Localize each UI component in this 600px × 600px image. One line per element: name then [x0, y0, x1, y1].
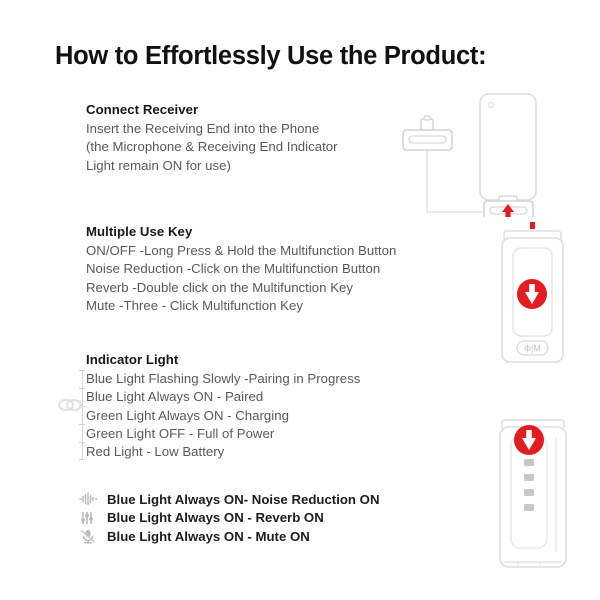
list-item: Blue Light Always ON - Reverb ON	[78, 509, 379, 528]
svg-text:Ф|M: Ф|M	[524, 344, 541, 354]
section-multiple-use-key: Multiple Use Key ON/OFF -Long Press & Ho…	[86, 224, 396, 315]
section-line: Light remain ON for use)	[86, 157, 338, 175]
red-down-arrow-button	[514, 425, 544, 455]
phone-with-receiver-illustration	[398, 92, 588, 217]
section-line: Noise Reduction -Click on the Multifunct…	[86, 260, 396, 278]
section-line: ON/OFF -Long Press & Hold the Multifunct…	[86, 242, 396, 260]
leader-line	[427, 150, 484, 212]
section-line: Green Light Always ON - Charging	[86, 407, 360, 425]
section-indicator-light: Indicator Light Blue Light Flashing Slow…	[86, 352, 360, 461]
page-title: How to Effortlessly Use the Product:	[55, 42, 486, 71]
list-item-label: Blue Light Always ON - Mute ON	[107, 529, 310, 544]
mute-microphone-icon	[78, 528, 98, 544]
section-line: Blue Light Always ON - Paired	[86, 388, 360, 406]
section-connect-receiver: Connect Receiver Insert the Receiving En…	[86, 102, 338, 175]
connector-plug	[421, 119, 433, 130]
list-item: Blue Light Always ON- Noise Reduction ON	[78, 490, 379, 509]
list-item: Blue Light Always ON - Mute ON	[78, 527, 379, 546]
red-down-arrow-button	[517, 279, 547, 309]
section-line: Insert the Receiving End into the Phone	[86, 120, 338, 138]
section-line: Red Light - Low Battery	[86, 443, 360, 461]
infographic-page: How to Effortlessly Use the Product: Con…	[0, 0, 600, 600]
receiver-device-illustration	[478, 412, 588, 577]
sound-wave-icon	[78, 491, 98, 507]
microphone-device-illustration: Ф|M	[478, 222, 588, 367]
chain-link-icon	[56, 394, 84, 416]
power-button: Ф|M	[517, 341, 548, 355]
phone-body	[480, 94, 536, 200]
list-item-label: Blue Light Always ON- Noise Reduction ON	[107, 492, 379, 507]
list-item-label: Blue Light Always ON - Reverb ON	[107, 510, 324, 525]
mode-status-list: Blue Light Always ON- Noise Reduction ON	[78, 490, 379, 546]
section-line: Blue Light Flashing Slowly -Pairing in P…	[86, 370, 360, 388]
section-line: Mute -Three - Click Multifunction Key	[86, 297, 396, 315]
section-line: (the Microphone & Receiving End Indicato…	[86, 138, 338, 156]
section-line: Reverb -Double click on the Multifunctio…	[86, 279, 396, 297]
section-heading: Connect Receiver	[86, 102, 338, 117]
section-line: Green Light OFF - Full of Power	[86, 425, 360, 443]
section-heading: Indicator Light	[86, 352, 360, 367]
equalizer-bars-icon	[78, 510, 98, 526]
section-heading: Multiple Use Key	[86, 224, 396, 239]
